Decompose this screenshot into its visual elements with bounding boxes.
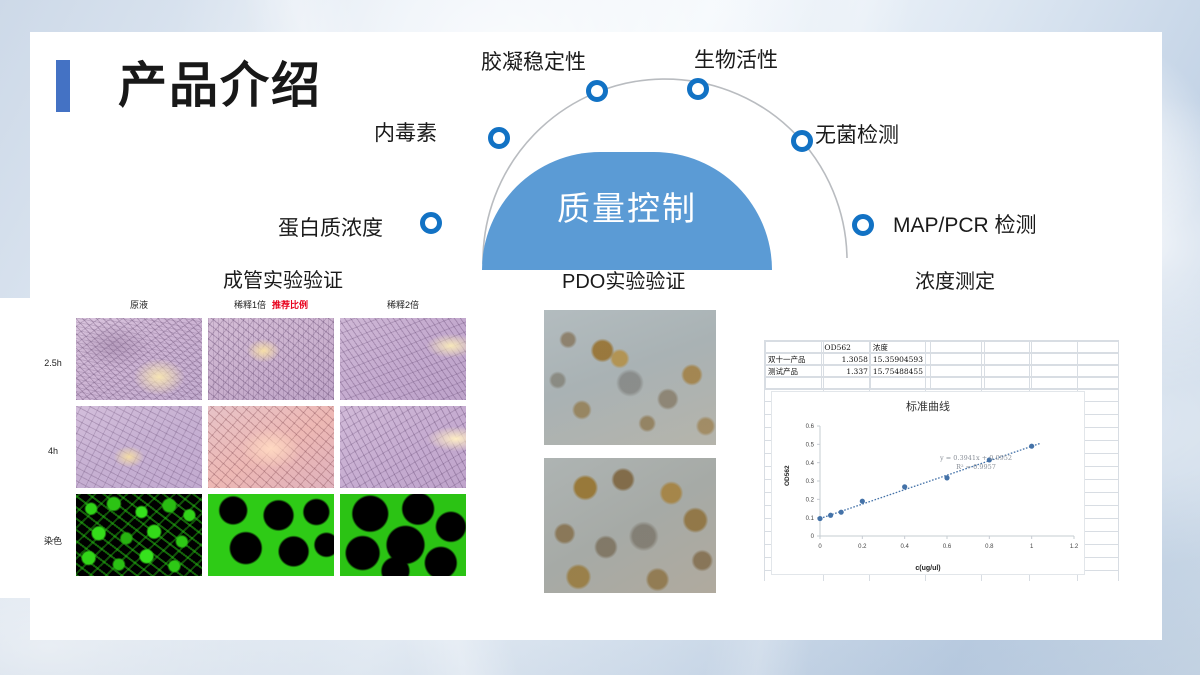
caption-tube-formation: 成管实验验证 [223,264,343,293]
svg-text:0: 0 [811,534,815,540]
table-row: 双十一产品 1.3058 15.35904593 [766,354,1119,366]
left-white-bleed [0,298,40,598]
title-accent-bar [56,60,70,112]
svg-text:0.4: 0.4 [806,461,815,467]
micrograph-2-5h-dilute-2x [340,318,466,400]
micrograph-2-5h-dilute-1x [208,318,334,400]
micrograph-4h-dilute-1x [208,406,334,488]
column-header-dilute-1x-label: 稀释1倍 [234,300,266,310]
row-label-staining: 染色 [36,534,70,547]
tube-formation-image-grid: 原液 稀释1倍推荐比例 稀释2倍 2.5h 4h 染色 [36,298,456,598]
column-header-dilute-2x-label: 稀释2倍 [387,300,419,310]
cell-od562: 1.3058 [822,354,870,366]
micrograph-4h-dilute-2x [340,406,466,488]
standard-curve-chart: 标准曲线 y = 0.3941x + 0.0952 R² = 0.9957 OD… [771,391,1085,575]
header-od562: OD562 [822,342,870,354]
svg-text:0: 0 [818,544,822,550]
micrograph-4h-original [76,406,202,488]
micrograph-2-5h-original [76,318,202,400]
svg-text:0.2: 0.2 [858,544,867,550]
svg-text:0.4: 0.4 [900,544,909,550]
cell-od562: 1.337 [822,366,870,378]
column-header-dilute-2x: 稀释2倍 [340,298,466,311]
micrograph-texture [208,406,334,488]
table-header-row: OD562 浓度 [766,342,1119,354]
micrograph-texture [76,318,202,400]
concentration-spreadsheet: OD562 浓度 双十一产品 1.3058 15.35904593 测试产品 1… [764,340,1119,581]
node-sterility-test[interactable] [791,130,813,152]
node-endotoxin[interactable] [488,127,510,149]
recommended-ratio-badge: 推荐比例 [272,300,308,310]
svg-text:0.8: 0.8 [985,544,994,550]
node-label-endotoxin: 内毒素 [374,117,437,147]
svg-text:0.1: 0.1 [806,516,815,522]
node-label-gel-stability: 胶凝稳定性 [481,46,586,76]
table-row-empty [766,378,1119,390]
quality-control-label: 质量控制 [482,182,772,230]
table-row: 测试产品 1.337 15.75488455 [766,366,1119,378]
chart-equation: y = 0.3941x + 0.0952 [940,454,1012,462]
chart-x-axis-label: c(ug/ul) [772,565,1084,572]
column-header-original-label: 原液 [130,300,148,310]
cell-sample-name: 测试产品 [766,366,822,378]
node-label-protein-concentration: 蛋白质浓度 [278,212,383,242]
chart-plot-area: y = 0.3941x + 0.0952 R² = 0.9957 OD562 0… [772,412,1084,572]
header-concentration: 浓度 [870,342,930,354]
svg-text:1: 1 [1030,544,1034,550]
header-blank [766,342,822,354]
micrograph-stain-dilute-2x [340,494,466,576]
chart-svg: 00.10.20.30.40.50.600.20.40.60.811.2 [772,412,1084,572]
svg-text:0.5: 0.5 [806,443,815,449]
chart-y-axis-label: OD562 [784,465,791,486]
row-label-4h: 4h [36,446,70,456]
node-label-map-pcr-test: MAP/PCR 检测 [893,209,1037,239]
node-gel-stability[interactable] [586,80,608,102]
pdo-micrograph-bottom [544,458,716,593]
node-bioactivity[interactable] [687,78,709,100]
svg-text:0.6: 0.6 [943,544,952,550]
cell-sample-name: 双十一产品 [766,354,822,366]
micrograph-texture [340,318,466,400]
node-map-pcr-test[interactable] [852,214,874,236]
fluorescence-texture [340,494,466,576]
micrograph-texture [76,406,202,488]
cell-concentration: 15.35904593 [870,354,930,366]
column-header-dilute-1x: 稀释1倍推荐比例 [208,298,334,311]
svg-text:0.3: 0.3 [806,479,815,485]
fluorescence-texture [76,494,202,576]
svg-text:0.6: 0.6 [806,424,815,430]
sample-results-table: OD562 浓度 双十一产品 1.3058 15.35904593 测试产品 1… [765,341,1119,390]
node-protein-concentration[interactable] [420,212,442,234]
row-label-2-5h: 2.5h [36,358,70,368]
micrograph-texture [340,406,466,488]
micrograph-stain-original [76,494,202,576]
cell-concentration: 15.75488455 [870,366,930,378]
chart-r-squared: R² = 0.9957 [956,463,996,471]
pdo-micrograph-top [544,310,716,445]
caption-pdo-validation: PDO实验验证 [562,265,685,294]
svg-text:1.2: 1.2 [1070,544,1079,550]
node-label-bioactivity: 生物活性 [694,44,778,74]
fluorescence-texture [208,494,334,576]
micrograph-texture [208,318,334,400]
column-header-original: 原液 [76,298,202,311]
micrograph-stain-dilute-1x [208,494,334,576]
caption-concentration: 浓度测定 [915,265,995,294]
node-label-sterility-test: 无菌检测 [815,119,899,149]
svg-text:0.2: 0.2 [806,498,815,504]
chart-annotation: y = 0.3941x + 0.0952 R² = 0.9957 [940,454,1012,472]
